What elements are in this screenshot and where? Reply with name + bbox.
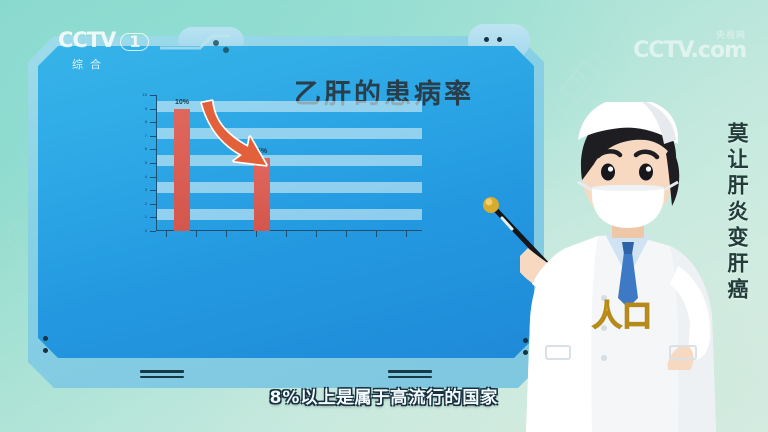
decline-arrow-icon [190, 99, 286, 181]
y-tick: 5 [150, 163, 156, 164]
cctv-com-watermark: 央视网 CCTV.com [633, 30, 746, 62]
y-tick: 1 [150, 217, 156, 218]
x-tick [376, 231, 377, 237]
y-tick: 7 [150, 136, 156, 137]
y-tick: 9 [150, 109, 156, 110]
x-tick [286, 231, 287, 237]
corner-dot [43, 336, 48, 341]
y-tick-label: 5 [145, 161, 147, 165]
y-tick-label: 6 [145, 147, 147, 151]
x-tick [196, 231, 197, 237]
x-tick [256, 231, 257, 237]
y-tick: 0 [150, 231, 156, 232]
bar-1-label: 10% [175, 99, 189, 106]
corner-dot [43, 348, 48, 353]
x-tick [406, 231, 407, 237]
y-tick: 6 [150, 149, 156, 150]
y-tick-label: 0 [145, 229, 147, 233]
logo-corner-decoration [160, 34, 230, 68]
y-tick-label: 2 [145, 202, 147, 206]
y-tick: 10 [150, 95, 156, 96]
x-tick [346, 231, 347, 237]
bar-chart: 012345678910 10% 6% [130, 95, 422, 245]
y-tick-label: 1 [145, 215, 147, 219]
y-tick-label: 8 [145, 120, 147, 124]
y-axis [156, 95, 157, 231]
coat-text: 人口 [592, 299, 652, 334]
cctv-channel-number: 1 [120, 33, 148, 51]
tv-broadcast-screenshot: 1 乙肝的患病率 [0, 0, 768, 432]
y-tick-label: 4 [145, 175, 147, 179]
y-tick-label: 10 [143, 93, 147, 97]
y-tick-label: 9 [145, 107, 147, 111]
y-tick: 2 [150, 204, 156, 205]
watermark-main: CCTV.com [633, 41, 746, 62]
bar-1 [174, 109, 190, 231]
y-tick-label: 7 [145, 134, 147, 138]
x-tick [316, 231, 317, 237]
x-tick [166, 231, 167, 237]
y-tick-label: 3 [145, 188, 147, 192]
y-tick: 3 [150, 190, 156, 191]
subtitle-caption: 8%以上是属于高流行的国家 [0, 383, 768, 408]
x-tick [226, 231, 227, 237]
vertical-slogan: 莫让肝炎变肝癌 [722, 122, 752, 304]
y-tick: 4 [150, 177, 156, 178]
panel-dash-left [140, 370, 184, 379]
cctv-logo-text: CCTV [58, 28, 115, 52]
panel-dash-right [388, 370, 432, 379]
y-tick: 8 [150, 122, 156, 123]
